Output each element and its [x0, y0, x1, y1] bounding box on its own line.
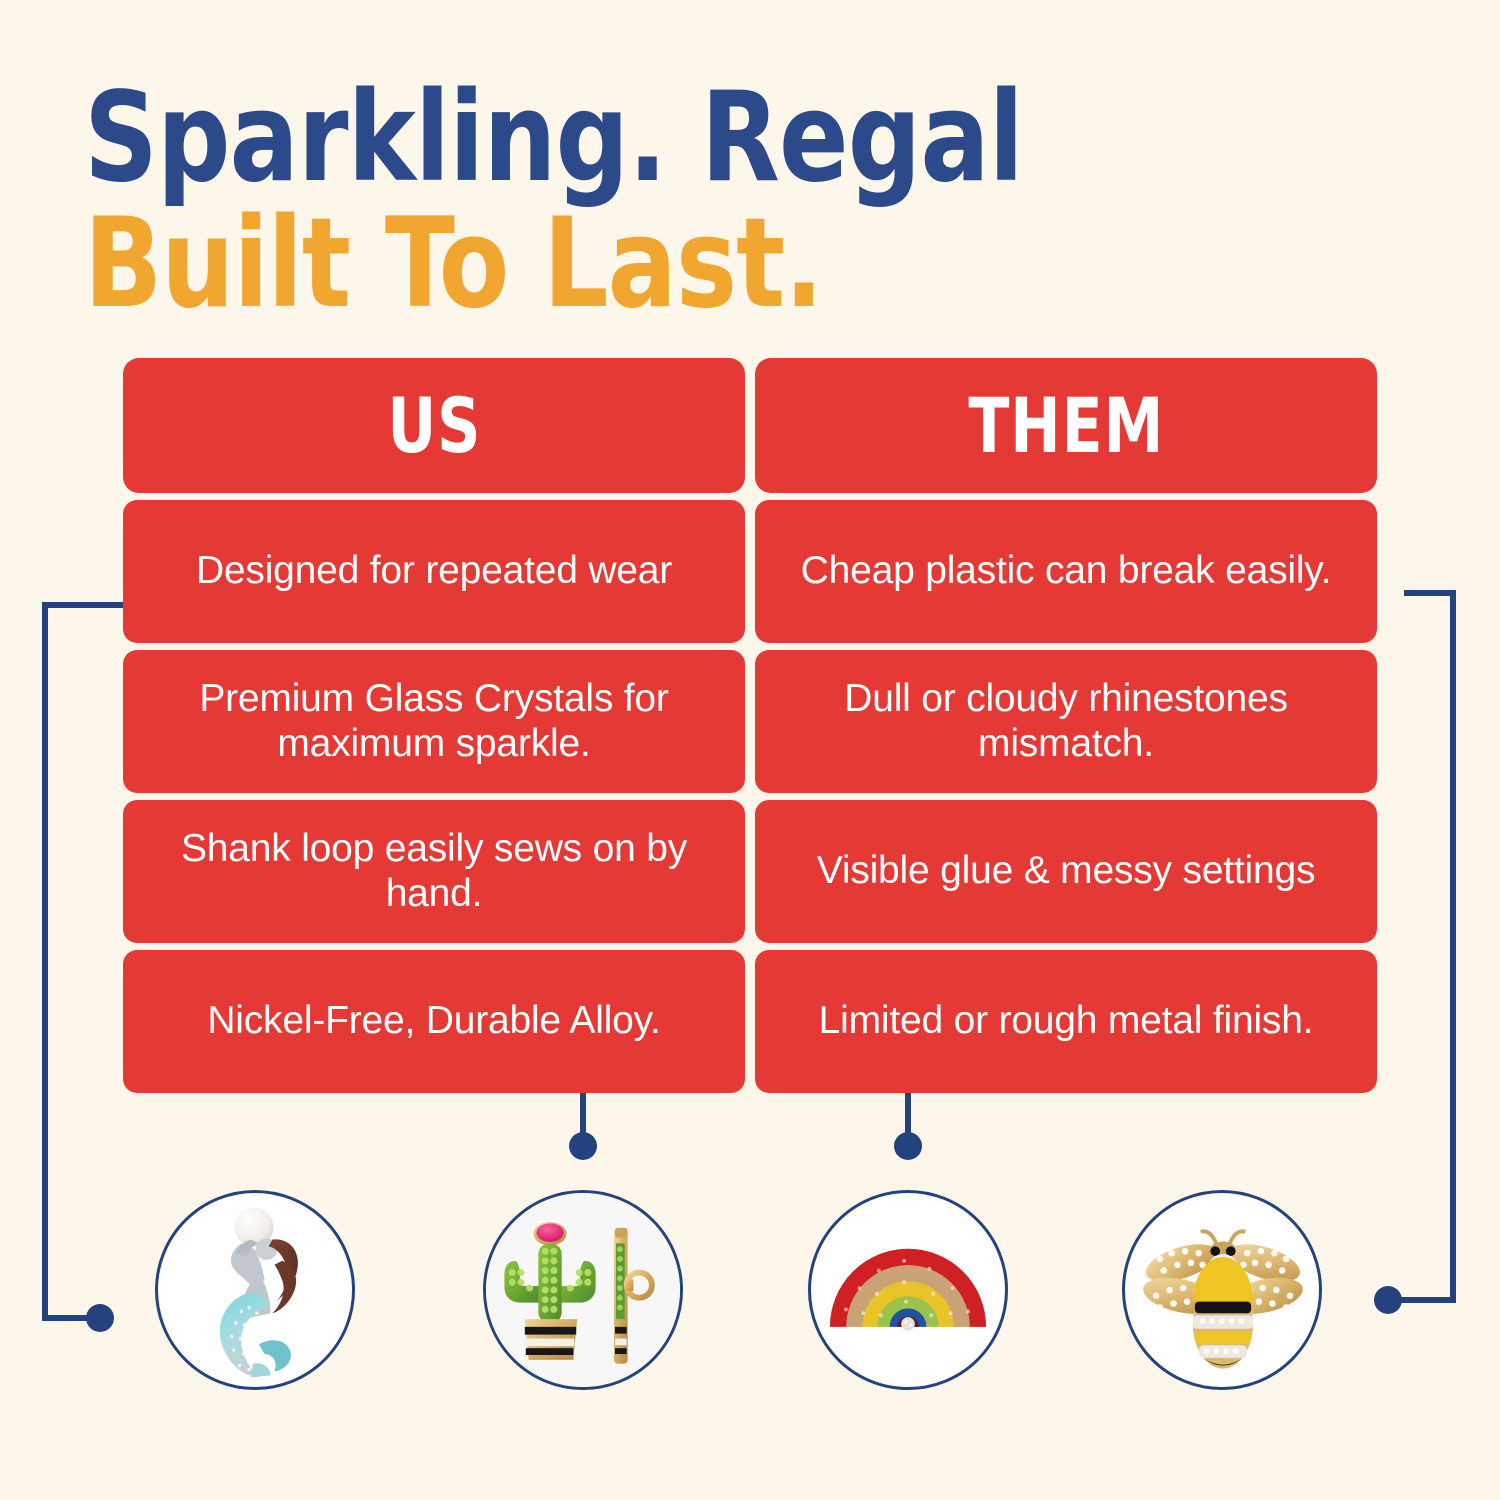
comparison-table: US THEM Designed for repeated wear Cheap…	[123, 358, 1377, 1100]
cell-us-3: Shank loop easily sews on by hand.	[123, 800, 745, 943]
table-row: Designed for repeated wear Cheap plastic…	[123, 500, 1377, 643]
table-row: Shank loop easily sews on by hand. Visib…	[123, 800, 1377, 943]
cell-us-4: Nickel-Free, Durable Alloy.	[123, 950, 745, 1093]
cell-us-4-text: Nickel-Free, Durable Alloy.	[207, 999, 660, 1043]
cell-them-4-text: Limited or rough metal finish.	[819, 999, 1314, 1043]
column-header-us: US	[123, 358, 745, 493]
cell-us-1: Designed for repeated wear	[123, 500, 745, 643]
product-circle-cactus	[483, 1190, 683, 1390]
column-header-them: THEM	[755, 358, 1377, 493]
cell-them-2-text: Dull or cloudy rhinestones mismatch.	[773, 677, 1359, 766]
headline-line-primary: Sparkling. Regal	[84, 78, 1317, 198]
cell-them-2: Dull or cloudy rhinestones mismatch.	[755, 650, 1377, 793]
cell-them-1-text: Cheap plastic can break easily.	[801, 549, 1332, 593]
cell-us-3-text: Shank loop easily sews on by hand.	[141, 827, 727, 916]
column-header-them-label: THEM	[968, 388, 1164, 464]
cell-them-4: Limited or rough metal finish.	[755, 950, 1377, 1093]
connector-right-bracket	[1396, 593, 1453, 1300]
mermaid-pearl-brooch-icon	[158, 1193, 352, 1387]
product-circle-mermaid	[155, 1190, 355, 1390]
headline-line-secondary: Built To Last.	[84, 204, 1317, 324]
cell-us-1-text: Designed for repeated wear	[196, 549, 672, 593]
infographic-canvas: Sparkling. Regal Built To Last. US THEM	[0, 0, 1500, 1500]
column-header-us-label: US	[387, 388, 481, 464]
headline-block: Sparkling. Regal Built To Last.	[84, 78, 1424, 325]
cactus-crystal-button-icon	[486, 1193, 680, 1387]
cell-us-2-text: Premium Glass Crystals for maximum spark…	[141, 677, 727, 766]
rainbow-rhinestone-brooch-icon	[811, 1193, 1005, 1387]
connector-dot-us	[569, 1132, 597, 1160]
product-circle-rainbow	[808, 1190, 1008, 1390]
cell-them-1: Cheap plastic can break easily.	[755, 500, 1377, 643]
connector-dot-them	[894, 1132, 922, 1160]
connector-left-bracket	[45, 605, 123, 1318]
cell-them-3: Visible glue & messy settings	[755, 800, 1377, 943]
bee-crystal-brooch-icon	[1125, 1193, 1319, 1387]
cell-us-2: Premium Glass Crystals for maximum spark…	[123, 650, 745, 793]
connector-dot-right	[1374, 1286, 1402, 1314]
cell-them-3-text: Visible glue & messy settings	[817, 849, 1316, 893]
connector-dot-left	[86, 1304, 114, 1332]
table-row: Premium Glass Crystals for maximum spark…	[123, 650, 1377, 793]
product-circle-bee	[1122, 1190, 1322, 1390]
table-header-row: US THEM	[123, 358, 1377, 493]
table-row: Nickel-Free, Durable Alloy. Limited or r…	[123, 950, 1377, 1093]
